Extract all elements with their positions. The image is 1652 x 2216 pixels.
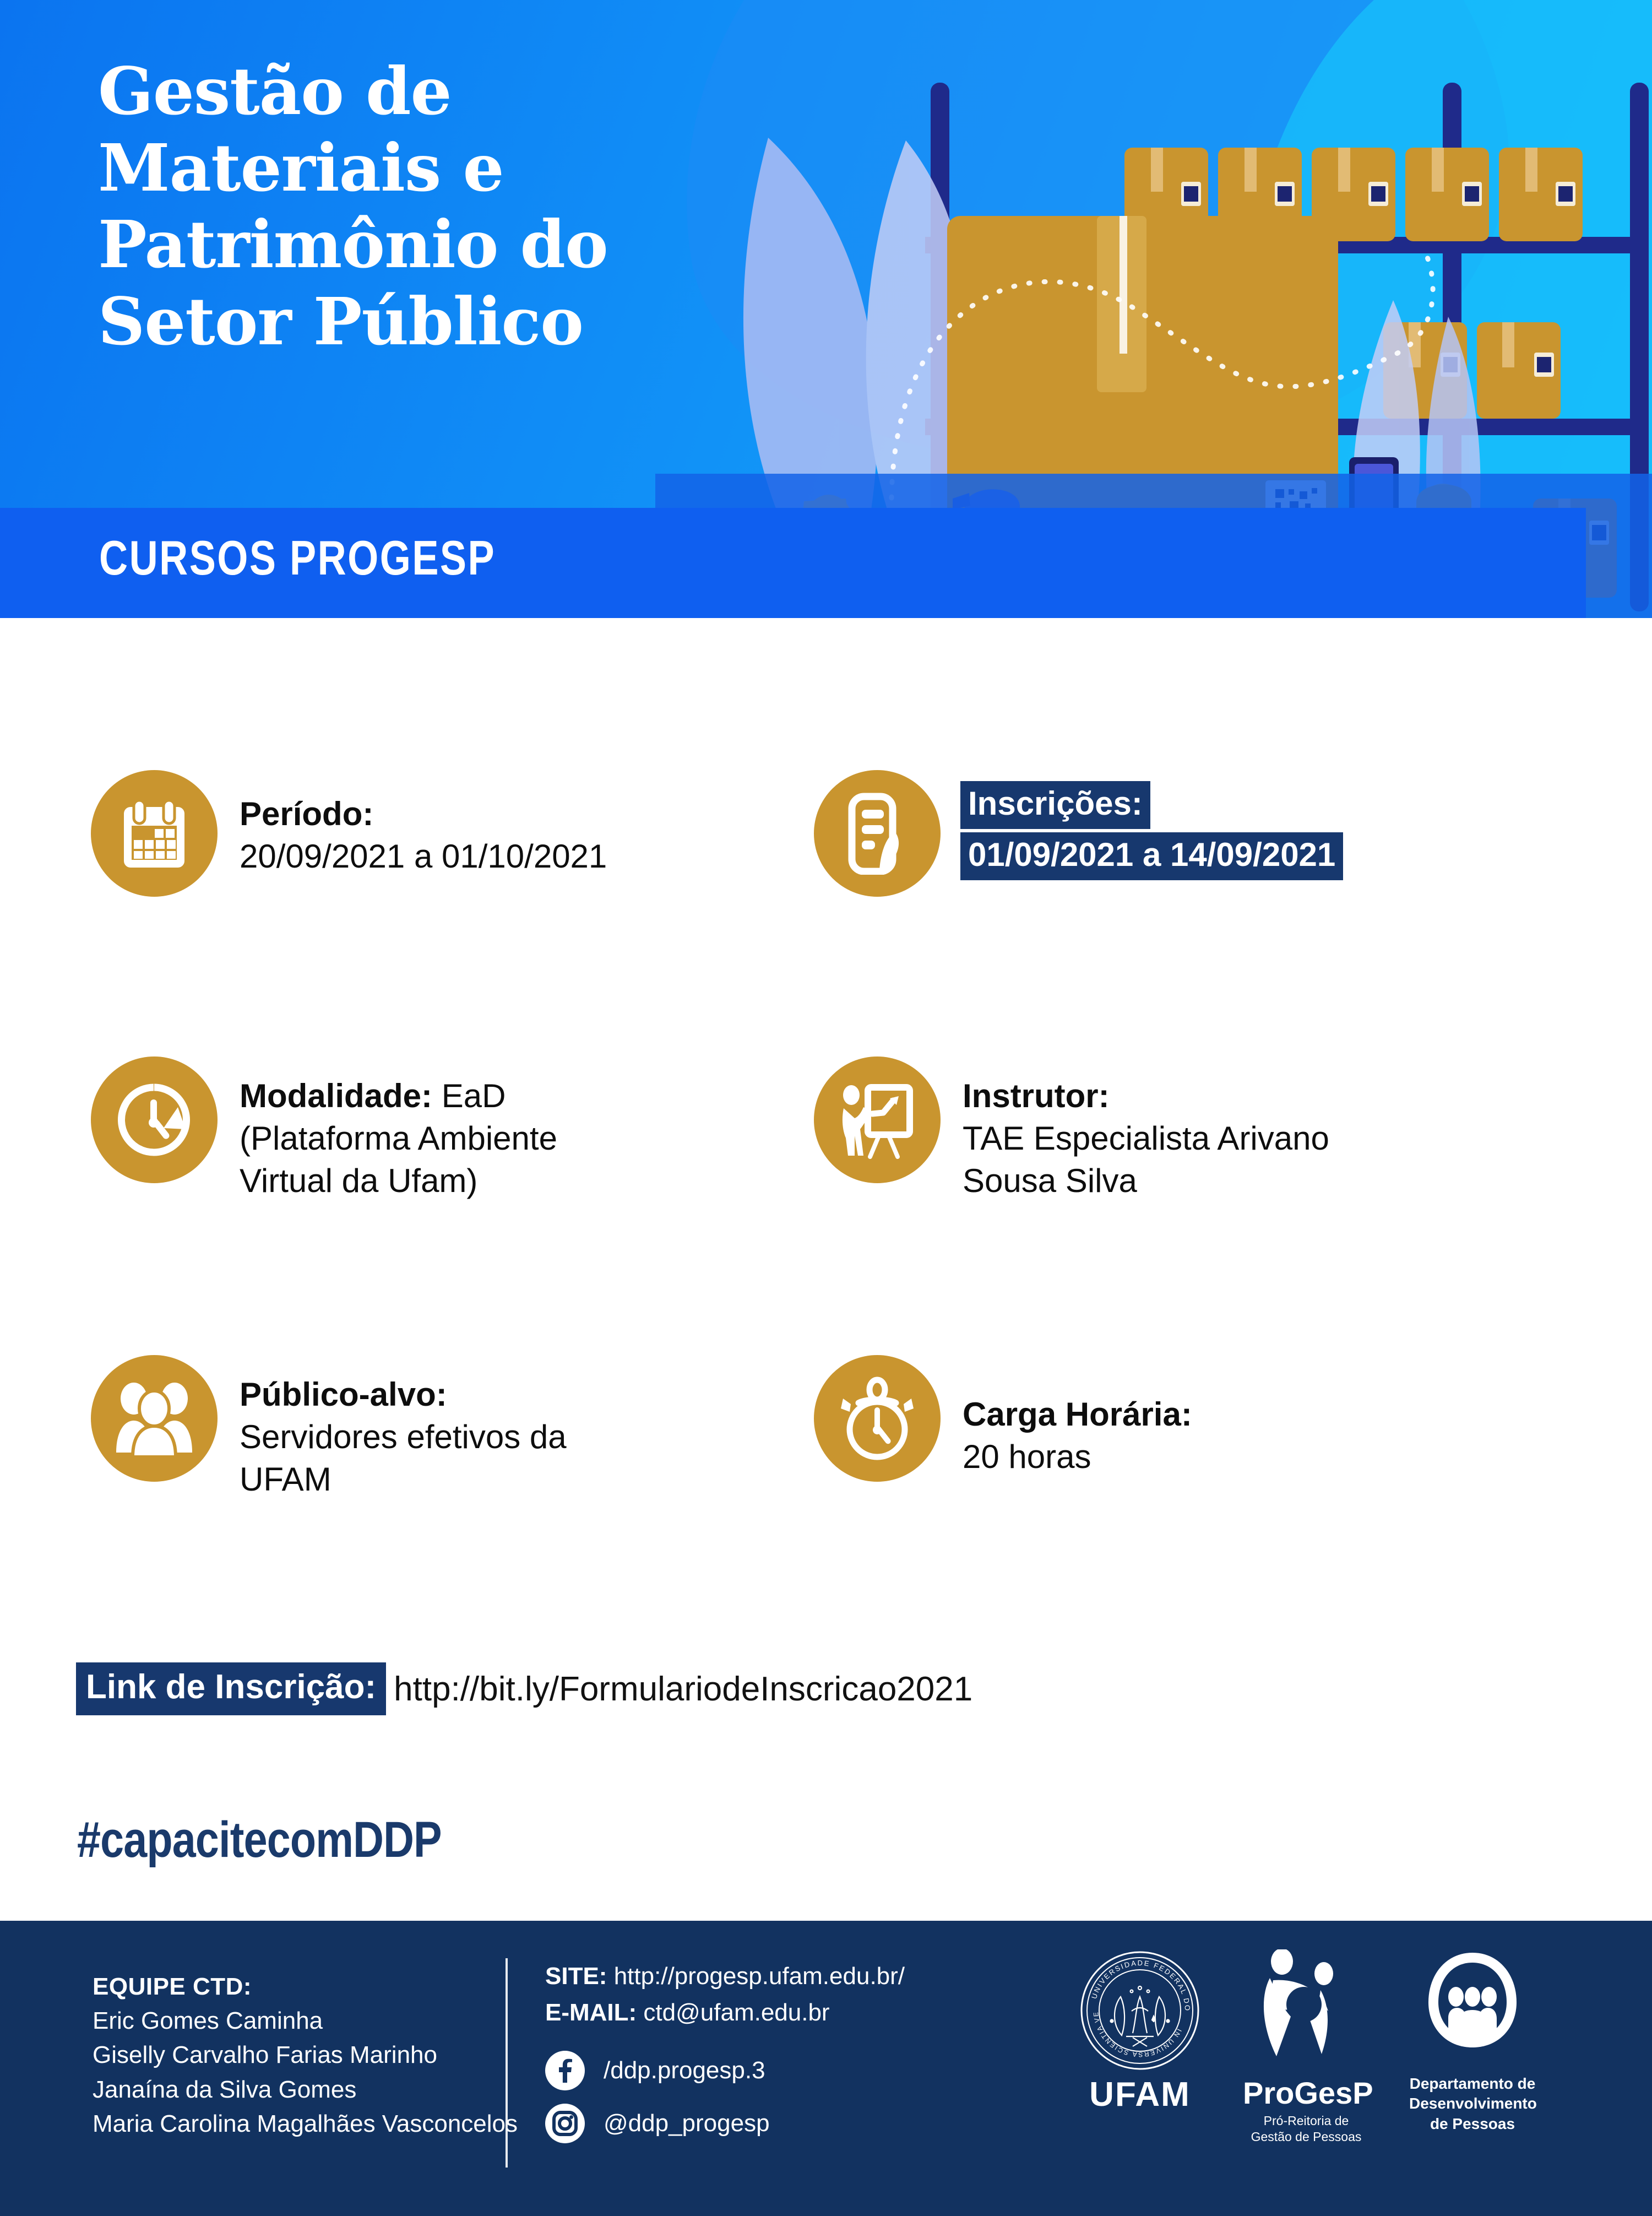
instrutor-line3: Sousa Silva xyxy=(963,1160,1329,1202)
hashtag: #capacitecomDDP xyxy=(77,1811,442,1869)
logo-progesp: ProGesP Pró-Reitoria de Gestão de Pessoa… xyxy=(1243,1949,1370,2145)
info-item-inscricoes: Inscrições: 01/09/2021 a 14/09/2021 xyxy=(814,770,1343,897)
facebook-row[interactable]: /ddp.progesp.3 xyxy=(545,2051,905,2090)
facebook-icon[interactable] xyxy=(545,2051,585,2090)
modalidade-value: EaD xyxy=(442,1077,506,1114)
page-title: Gestão de Materiais e Patrimônio do Seto… xyxy=(98,53,715,360)
info-item-periodo: Período: 20/09/2021 a 01/10/2021 xyxy=(91,770,607,897)
people-group-icon xyxy=(91,1355,218,1482)
instagram-handle: @ddp_progesp xyxy=(604,2110,770,2137)
inscricoes-value: 01/09/2021 a 14/09/2021 xyxy=(960,832,1343,880)
info-item-publico-alvo: Público-alvo: Servidores efetivos da UFA… xyxy=(91,1355,567,1500)
instagram-icon[interactable] xyxy=(545,2104,585,2143)
title-line-2: Materiais e xyxy=(98,129,715,206)
carga-label: Carga Horária: xyxy=(963,1394,1192,1436)
periodo-value: 20/09/2021 a 01/10/2021 xyxy=(240,836,607,878)
team-member: Maria Carolina Magalhães Vasconcelos xyxy=(93,2107,518,2141)
inscricoes-label: Inscrições: xyxy=(960,781,1150,829)
team-member: Giselly Carvalho Farias Marinho xyxy=(93,2038,518,2072)
header-banner: Gestão de Materiais e Patrimônio do Seto… xyxy=(0,0,1652,618)
site-value[interactable]: http://progesp.ufam.edu.br/ xyxy=(614,1963,905,1990)
email-value[interactable]: ctd@ufam.edu.br xyxy=(643,1999,829,2026)
logo-name-progesp: ProGesP xyxy=(1243,2075,1370,2111)
info-item-carga-horaria: Carga Horária: 20 horas xyxy=(814,1355,1192,1482)
document-pen-icon xyxy=(814,770,941,897)
modalidade-line3: Virtual da Ufam) xyxy=(240,1160,557,1202)
info-item-modalidade: Modalidade: EaD (Plataforma Ambiente Vir… xyxy=(91,1056,557,1202)
clock-arrow-icon xyxy=(91,1056,218,1183)
site-line: SITE: http://progesp.ufam.edu.br/ xyxy=(545,1958,905,1995)
footer-logos: UNIVERSIDADE FEDERAL DO AMAZONAS IN UNIV… xyxy=(1077,1949,1536,2145)
link-de-inscricao-row[interactable]: Link de Inscrição: http://bit.ly/Formula… xyxy=(76,1662,972,1715)
team-member: Eric Gomes Caminha xyxy=(93,2004,518,2038)
email-line: E-MAIL: ctd@ufam.edu.br xyxy=(545,1995,905,2031)
footer-divider xyxy=(506,1958,508,2168)
logo-name-ufam: UFAM xyxy=(1077,2075,1203,2114)
info-item-instrutor: Instrutor: TAE Especialista Arivano Sous… xyxy=(814,1056,1329,1202)
team-title: EQUIPE CTD: xyxy=(93,1973,518,2001)
progesp-logo-icon xyxy=(1243,1949,1370,2072)
ufam-seal-icon: UNIVERSIDADE FEDERAL DO AMAZONAS IN UNIV… xyxy=(1077,1949,1203,2072)
title-line-4: Setor Público xyxy=(98,283,715,360)
title-line-1: Gestão de xyxy=(98,53,715,129)
link-url[interactable]: http://bit.ly/FormulariodeInscricao2021 xyxy=(394,1670,972,1709)
modalidade-line2: (Plataforma Ambiente xyxy=(240,1118,557,1160)
team-member: Janaína da Silva Gomes xyxy=(93,2073,518,2107)
site-label: SITE: xyxy=(545,1963,607,1990)
publico-line3: UFAM xyxy=(240,1459,567,1501)
footer-team-block: EQUIPE CTD: Eric Gomes Caminha Giselly C… xyxy=(93,1973,518,2142)
calendar-icon xyxy=(91,770,218,897)
logo-ddp: Departamento de Desenvolvimento de Pesso… xyxy=(1409,1949,1536,2134)
logo-ufam: UNIVERSIDADE FEDERAL DO AMAZONAS IN UNIV… xyxy=(1077,1949,1203,2114)
modalidade-label: Modalidade: xyxy=(240,1077,432,1114)
link-tag-label: Link de Inscrição: xyxy=(76,1662,386,1715)
stopwatch-icon xyxy=(814,1355,941,1482)
footer: EQUIPE CTD: Eric Gomes Caminha Giselly C… xyxy=(0,1921,1652,2216)
ddp-logo-icon xyxy=(1409,1949,1536,2072)
publico-label: Público-alvo: xyxy=(240,1374,567,1416)
logo-sub-progesp: Pró-Reitoria de Gestão de Pessoas xyxy=(1243,2113,1370,2145)
title-line-3: Patrimônio do xyxy=(98,206,715,283)
email-label: E-MAIL: xyxy=(545,1999,637,2026)
cursos-progesp-label: CURSOS PROGESP xyxy=(99,530,496,586)
carga-value: 20 horas xyxy=(963,1436,1192,1478)
facebook-handle: /ddp.progesp.3 xyxy=(604,2057,765,2084)
instrutor-line2: TAE Especialista Arivano xyxy=(963,1118,1329,1160)
periodo-label: Período: xyxy=(240,793,607,836)
footer-contact-block: SITE: http://progesp.ufam.edu.br/ E-MAIL… xyxy=(545,1958,905,2143)
publico-line2: Servidores efetivos da xyxy=(240,1416,567,1459)
presenter-icon xyxy=(814,1056,941,1183)
instrutor-label: Instrutor: xyxy=(963,1075,1329,1118)
instagram-row[interactable]: @ddp_progesp xyxy=(545,2104,905,2143)
logo-sub-ddp: Departamento de Desenvolvimento de Pesso… xyxy=(1409,2074,1536,2134)
